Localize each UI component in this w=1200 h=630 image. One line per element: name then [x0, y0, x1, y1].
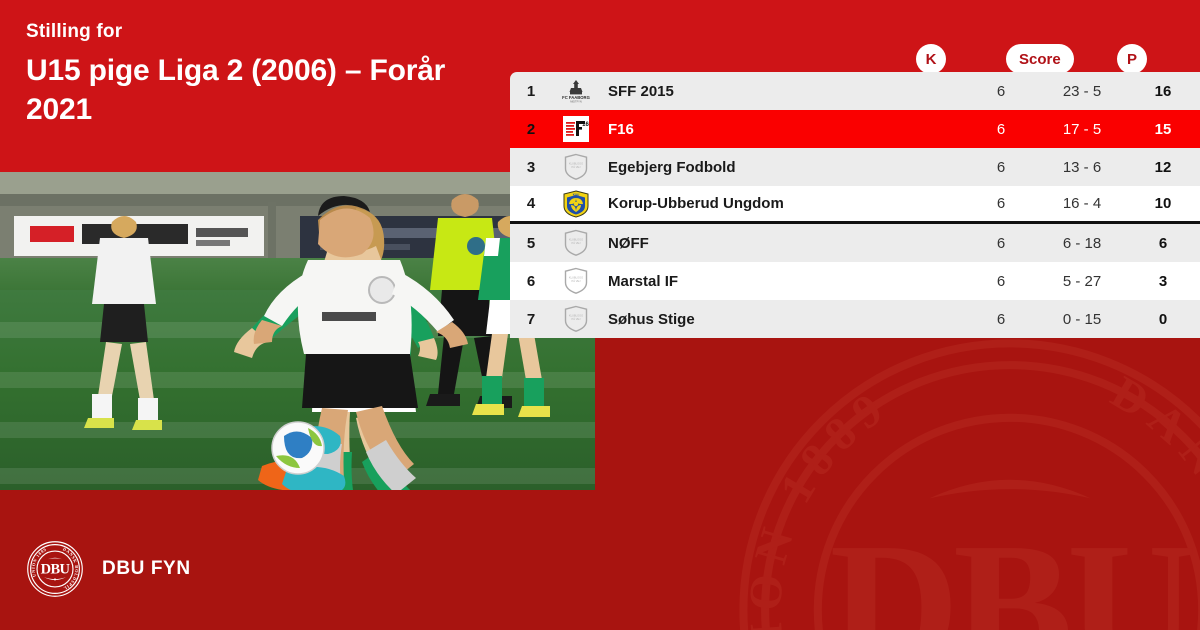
table-row[interactable]: 216F16617 - 515: [510, 110, 1200, 148]
table-row[interactable]: 6KLUBLOGOPÅ VEJMarstal IF65 - 273: [510, 262, 1200, 300]
cell-goal-score: 6 - 18: [1032, 235, 1132, 252]
cell-rank: 3: [510, 159, 552, 176]
svg-text:FC FAABORG: FC FAABORG: [562, 95, 590, 100]
cell-points: 3: [1132, 273, 1194, 290]
placeholder-shield: KLUBLOGOPÅ VEJ: [552, 267, 600, 295]
standings-table: 1FC FAABORGMIDTFYNSFF 2015623 - 516216F1…: [510, 72, 1200, 338]
cell-points: 15: [1132, 121, 1194, 138]
svg-text:KLUBLOGO: KLUBLOGO: [569, 313, 583, 317]
cell-rank: 4: [510, 195, 552, 212]
cell-rank: 1: [510, 83, 552, 100]
cell-rank: 2: [510, 121, 552, 138]
cell-matches-played: 6: [970, 235, 1032, 252]
cell-goal-score: 16 - 4: [1032, 195, 1132, 212]
cell-team-name: NØFF: [600, 235, 970, 252]
placeholder-shield: KLUBLOGOPÅ VEJ: [552, 229, 600, 257]
svg-text:KLUBLOGO: KLUBLOGO: [569, 275, 583, 279]
table-row[interactable]: 4KUUKorup-Ubberud Ungdom616 - 410: [510, 186, 1200, 224]
table-row[interactable]: 3KLUBLOGOPÅ VEJEgebjerg Fodbold613 - 612: [510, 148, 1200, 186]
cell-points: 0: [1132, 311, 1194, 328]
cell-team-name: F16: [600, 121, 970, 138]
cell-team-name: Egebjerg Fodbold: [600, 159, 970, 176]
svg-text:KUU: KUU: [573, 192, 580, 196]
placeholder-shield: KLUBLOGOPÅ VEJ: [552, 153, 600, 181]
cell-team-name: Korup-Ubberud Ungdom: [600, 195, 970, 212]
cell-goal-score: 0 - 15: [1032, 311, 1132, 328]
column-badge-k: K: [916, 44, 946, 74]
cell-team-name: SFF 2015: [600, 83, 970, 100]
cell-goal-score: 13 - 6: [1032, 159, 1132, 176]
footer-brand: DANSK BOLDSPIL UNION 1889 DBU DBU FYN: [26, 540, 191, 598]
cell-goal-score: 17 - 5: [1032, 121, 1132, 138]
cell-rank: 6: [510, 273, 552, 290]
footer-label: DBU FYN: [102, 558, 191, 580]
svg-text:KLUBLOGO: KLUBLOGO: [569, 237, 583, 241]
cell-team-name: Søhus Stige: [600, 311, 970, 328]
table-row[interactable]: 1FC FAABORGMIDTFYNSFF 2015623 - 516: [510, 72, 1200, 110]
kicker-text: Stilling for: [26, 22, 496, 43]
cell-points: 12: [1132, 159, 1194, 176]
svg-text:KLUBLOGO: KLUBLOGO: [569, 161, 583, 165]
dbu-crest-logo: DANSK BOLDSPIL UNION 1889 DBU: [26, 540, 84, 598]
cell-matches-played: 6: [970, 195, 1032, 212]
cell-rank: 7: [510, 311, 552, 328]
svg-text:DBU: DBU: [41, 562, 71, 578]
poster-root: DANSK BOLDSPIL UNION 1889 DBU: [0, 0, 1200, 630]
cell-matches-played: 6: [970, 311, 1032, 328]
placeholder-shield: KLUBLOGOPÅ VEJ: [552, 305, 600, 333]
svg-text:16: 16: [582, 122, 589, 128]
svg-text:MIDTFYN: MIDTFYN: [570, 100, 582, 104]
korup-ubberud-logo: KUU: [552, 190, 600, 218]
cell-matches-played: 6: [970, 121, 1032, 138]
f16-logo: 16: [552, 116, 600, 142]
cell-points: 16: [1132, 83, 1194, 100]
table-row[interactable]: 5KLUBLOGOPÅ VEJNØFF66 - 186: [510, 224, 1200, 262]
match-photo: [0, 172, 595, 490]
page-title: U15 pige Liga 2 (2006) – Forår 2021: [26, 51, 496, 129]
cell-goal-score: 23 - 5: [1032, 83, 1132, 100]
cell-points: 10: [1132, 195, 1194, 212]
cell-matches-played: 6: [970, 83, 1032, 100]
cell-matches-played: 6: [970, 273, 1032, 290]
cell-matches-played: 6: [970, 159, 1032, 176]
cell-team-name: Marstal IF: [600, 273, 970, 290]
cell-goal-score: 5 - 27: [1032, 273, 1132, 290]
cell-rank: 5: [510, 235, 552, 252]
table-row[interactable]: 7KLUBLOGOPÅ VEJSøhus Stige60 - 150: [510, 300, 1200, 338]
cell-points: 6: [1132, 235, 1194, 252]
column-badge-p: P: [1117, 44, 1147, 74]
fc-faaborg-logo: FC FAABORGMIDTFYN: [552, 78, 600, 104]
headline-block: Stilling for U15 pige Liga 2 (2006) – Fo…: [26, 22, 496, 129]
column-badge-score: Score: [1006, 44, 1074, 74]
